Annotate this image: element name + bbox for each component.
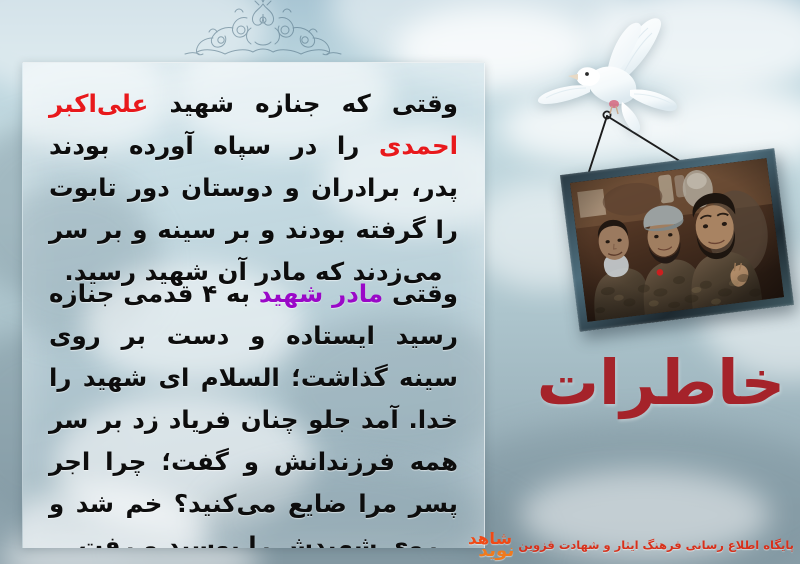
story-paragraph-1: وقتی که جنازه شهید علی‌اکبر احمدی را در … [49, 83, 458, 293]
story-paragraph-2: وقتی مادر شهید به ۴ قدمی جنازه رسید ایست… [49, 273, 458, 548]
paragraph-2-segment-2: به ۴ قدمی جنازه رسید ایستاده و دست بر رو… [49, 279, 458, 548]
martyr-mother-highlight: مادر شهید [259, 279, 383, 308]
poster-canvas: وقتی که جنازه شهید علی‌اکبر احمدی را در … [0, 0, 800, 564]
photograph-image [570, 158, 784, 322]
logo-word-navid: نوید [478, 541, 515, 561]
story-panel: وقتی که جنازه شهید علی‌اکبر احمدی را در … [22, 62, 485, 548]
paragraph-2-segment-1: وقتی [383, 279, 458, 308]
framed-photograph[interactable] [560, 148, 794, 332]
photo-frame-border [560, 148, 794, 332]
navid-shahed-logo[interactable]: شاهد نوید [451, 530, 513, 560]
page-title: خاطرات [530, 352, 792, 414]
site-branding-banner[interactable]: شاهد نوید پایگاه اطلاع رسانی فرهنگ ایثار… [451, 530, 794, 560]
paragraph-1-segment-1: وقتی که جنازه شهید [148, 89, 458, 118]
banner-tagline: پایگاه اطلاع رسانی فرهنگ ایثار و شهادت ق… [518, 538, 794, 552]
